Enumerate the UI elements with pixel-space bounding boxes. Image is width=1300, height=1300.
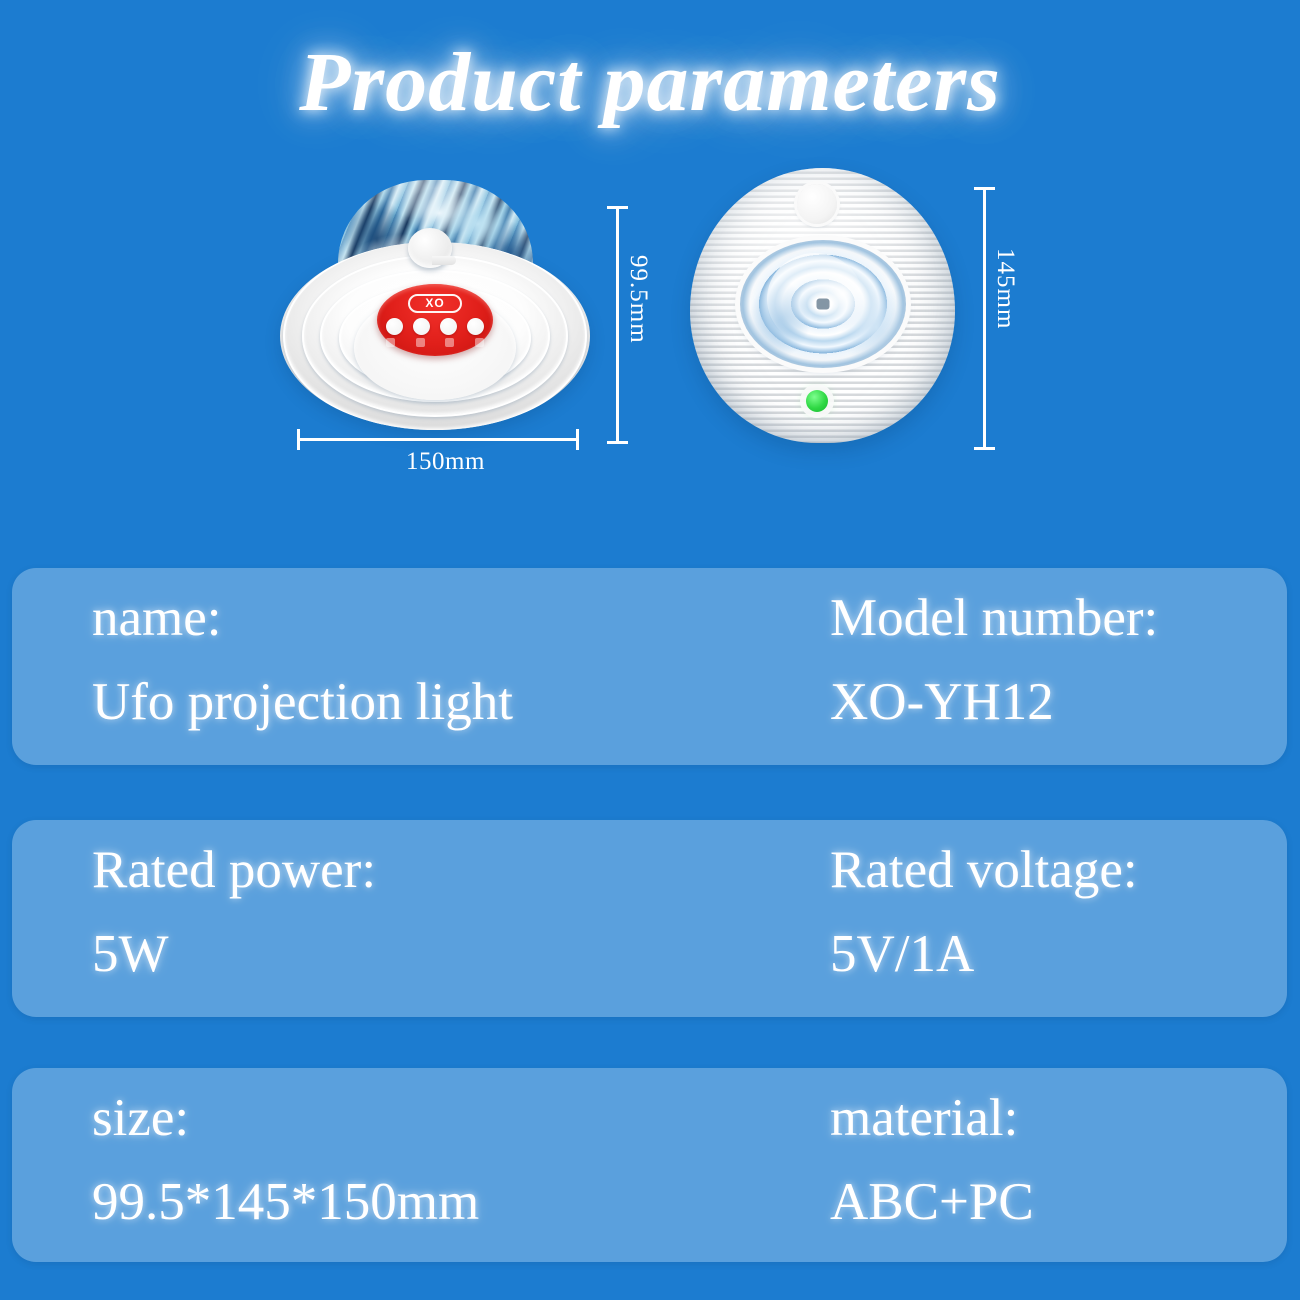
spec-label: size:: [92, 1088, 189, 1148]
dimension-line-depth-right: [983, 187, 986, 450]
dimension-label-depth-right: 145mm: [991, 248, 1019, 329]
lens-center-dot: [817, 299, 830, 310]
dimension-line-width-left: [297, 438, 579, 441]
xo-logo-icon: XO: [408, 294, 462, 313]
device-knob-right: [797, 184, 837, 224]
control-panel: XO: [377, 284, 493, 356]
spec-value: XO-YH12: [830, 672, 1054, 732]
control-panel-buttons: [386, 318, 484, 335]
spec-label: name:: [92, 588, 222, 648]
spec-value: 5V/1A: [830, 924, 974, 984]
control-panel-glyphs: [386, 338, 484, 347]
music-button-icon: [467, 318, 484, 335]
product-image-right: [690, 168, 955, 443]
spec-card: size: 99.5*145*150mm material: ABC+PC: [12, 1068, 1287, 1262]
spec-value: 99.5*145*150mm: [92, 1172, 479, 1232]
spec-cell-rated-voltage: Rated voltage: 5V/1A: [830, 820, 1300, 1017]
dimension-line-height-left: [616, 206, 619, 444]
spec-card: name: Ufo projection light Model number:…: [12, 568, 1287, 765]
spec-cell-name: name: Ufo projection light: [92, 568, 792, 765]
spec-label: material:: [830, 1088, 1018, 1148]
spec-label: Rated voltage:: [830, 840, 1138, 900]
status-led-indicator: [806, 390, 828, 412]
spec-label: Rated power:: [92, 840, 376, 900]
dimension-label-width-left: 150mm: [406, 448, 485, 476]
dimension-label-height-left: 99.5mm: [624, 255, 652, 344]
spec-value: Ufo projection light: [92, 672, 513, 732]
product-figure: XO 99.5mm 150mm 145mm: [0, 160, 1300, 500]
spec-cell-rated-power: Rated power: 5W: [92, 820, 792, 1017]
spec-cell-model-number: Model number: XO-YH12: [830, 568, 1300, 765]
spec-label: Model number:: [830, 588, 1158, 648]
projector-lens: [740, 240, 906, 368]
page-title: Product parameters: [0, 34, 1300, 131]
spec-card: Rated power: 5W Rated voltage: 5V/1A: [12, 820, 1287, 1017]
product-image-left: XO: [280, 180, 590, 430]
spec-value: 5W: [92, 924, 169, 984]
spec-value: ABC+PC: [830, 1172, 1034, 1232]
spec-cell-material: material: ABC+PC: [830, 1068, 1300, 1262]
device-knob-left: [408, 228, 452, 268]
light-button-icon: [440, 318, 457, 335]
mode-button-icon: [413, 318, 430, 335]
power-button-icon: [386, 318, 403, 335]
spec-cell-size: size: 99.5*145*150mm: [92, 1068, 792, 1262]
